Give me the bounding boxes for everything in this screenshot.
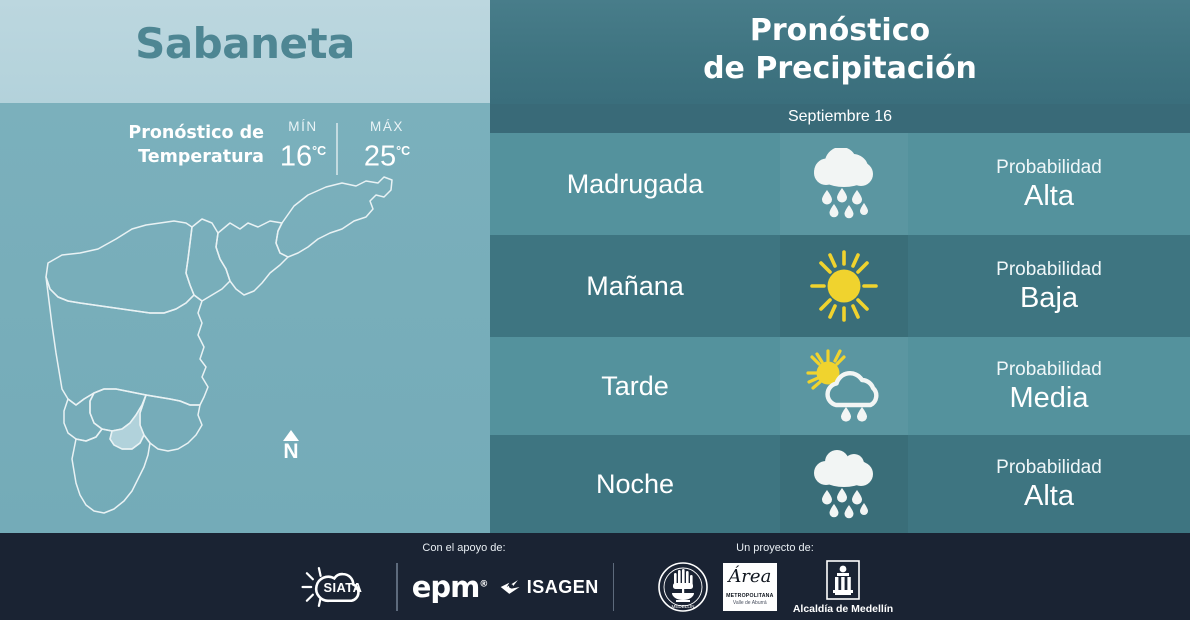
- compass-rose: N: [277, 430, 305, 463]
- rain-cloud-icon: [801, 148, 887, 220]
- forecast-probability-word: Probabilidad: [996, 456, 1102, 480]
- map-panel: Pronóstico de Temperatura MÍN 16°C MÁX 2…: [0, 103, 490, 533]
- isagen-logo: ISAGEN: [527, 577, 599, 598]
- forecast-date: Septiembre 16: [490, 108, 1190, 126]
- footer-support-logos: SIATA epm® ISAGEN: [300, 558, 628, 616]
- forecast-row: Madrugada: [490, 133, 1190, 235]
- forecast-icon-cell: [780, 133, 908, 235]
- footer-support-caption: Con el apoyo de:: [300, 542, 628, 554]
- forecast-icon-cell: [780, 235, 908, 337]
- temperature-min-label: MÍN: [264, 119, 342, 134]
- forecast-period-label: Madrugada: [567, 169, 704, 200]
- area-subtitle-1: METROPOLITANA: [723, 593, 777, 599]
- udea-seal-logo: MEDELLIN: [657, 561, 709, 613]
- forecast-probability-value: Media: [1010, 382, 1089, 414]
- forecast-period-cell: Mañana: [490, 235, 780, 337]
- footer-project-logos: MEDELLIN Área METROPOLITANA Valle de Abu…: [630, 558, 920, 616]
- forecast-period-label: Tarde: [601, 371, 669, 402]
- footer-support-group: Con el apoyo de: SIATA epm®: [300, 533, 628, 620]
- temperature-max-unit: °C: [396, 144, 410, 158]
- footer-project-group: Un proyecto de:: [630, 533, 920, 620]
- forecast-probability-cell: Probabilidad Baja: [908, 235, 1190, 337]
- alcaldia-label: Alcaldía de Medellín: [793, 603, 893, 615]
- forecast-period-cell: Tarde: [490, 337, 780, 435]
- forecast-period-cell: Noche: [490, 435, 780, 533]
- forecast-row: Noche: [490, 435, 1190, 533]
- sun-cloud-rain-icon: [800, 349, 888, 423]
- precipitation-panel: Pronóstico de Precipitación Septiembre 1…: [490, 0, 1190, 533]
- footer-divider: [613, 563, 614, 611]
- city-name: Sabaneta: [0, 19, 490, 68]
- forecast-title: Pronóstico de Precipitación: [490, 12, 1190, 88]
- forecast-probability-word: Probabilidad: [996, 258, 1102, 282]
- isagen-mark-icon: [499, 575, 521, 599]
- rain-cloud-icon: [801, 448, 887, 520]
- forecast-title-line1: Pronóstico: [750, 13, 930, 48]
- footer-project-caption: Un proyecto de:: [630, 542, 920, 554]
- weather-forecast-infographic: Sabaneta Pronóstico de Temperatura MÍN 1…: [0, 0, 1190, 620]
- left-panel: Sabaneta Pronóstico de Temperatura MÍN 1…: [0, 0, 490, 533]
- forecast-icon-cell: [780, 435, 908, 533]
- forecast-probability-cell: Probabilidad Media: [908, 337, 1190, 435]
- epm-wordmark: epm: [412, 570, 480, 604]
- forecast-probability-cell: Probabilidad Alta: [908, 435, 1190, 533]
- municipality-map: [40, 161, 440, 531]
- forecast-period-cell: Madrugada: [490, 133, 780, 235]
- city-band: Sabaneta: [0, 0, 490, 103]
- forecast-probability-value: Alta: [1024, 480, 1074, 512]
- forecast-period-label: Noche: [596, 469, 674, 500]
- temperature-min-unit: °C: [312, 144, 326, 158]
- footer-divider: [396, 563, 397, 611]
- forecast-header: Pronóstico de Precipitación: [490, 0, 1190, 104]
- alcaldia-shield-icon: [826, 560, 860, 600]
- alcaldia-medellin-logo: Alcaldía de Medellín: [793, 560, 893, 615]
- temperature-max-label: MÁX: [348, 119, 426, 134]
- forecast-period-label: Mañana: [586, 271, 684, 302]
- forecast-probability-value: Baja: [1020, 282, 1078, 314]
- forecast-date-band: Septiembre 16: [490, 104, 1190, 133]
- area-metropolitana-logo: Área METROPOLITANA Valle de Aburrá: [723, 563, 777, 611]
- siata-logo: SIATA: [300, 562, 382, 612]
- siata-wordmark: SIATA: [324, 580, 363, 595]
- forecast-row: Tarde: [490, 337, 1190, 435]
- sun-icon: [804, 248, 884, 324]
- area-wordmark: Área: [723, 566, 777, 587]
- forecast-probability-word: Probabilidad: [996, 156, 1102, 180]
- epm-logo: epm®: [412, 570, 488, 604]
- epm-registered-mark: ®: [479, 579, 487, 589]
- forecast-probability-cell: Probabilidad Alta: [908, 133, 1190, 235]
- udea-seal-text: MEDELLIN: [671, 604, 694, 609]
- forecast-icon-cell: [780, 337, 908, 435]
- footer: Con el apoyo de: SIATA epm®: [0, 533, 1190, 620]
- forecast-probability-word: Probabilidad: [996, 358, 1102, 382]
- forecast-row: Mañana: [490, 235, 1190, 337]
- temperature-title-line1: Pronóstico de: [128, 123, 264, 143]
- compass-north-label: N: [277, 441, 305, 463]
- forecast-probability-value: Alta: [1024, 180, 1074, 212]
- area-subtitle-2: Valle de Aburrá: [723, 600, 777, 606]
- forecast-title-line2: de Precipitación: [703, 51, 977, 86]
